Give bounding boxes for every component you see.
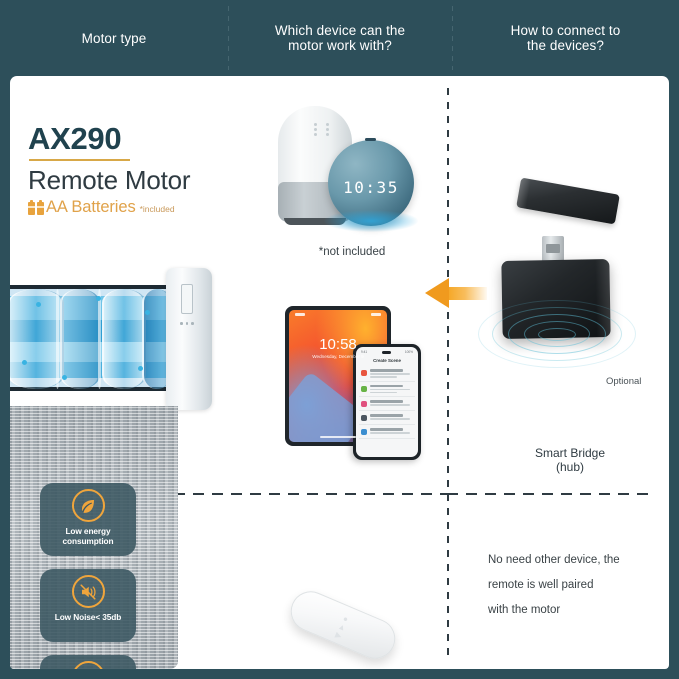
header-label-how-to-connect: How to connect tothe devices? [511, 23, 621, 53]
list-item[interactable] [359, 411, 415, 425]
product-name: Remote Motor [28, 165, 248, 195]
launch-app-icon [361, 370, 367, 376]
list-item[interactable] [359, 382, 415, 398]
tablet-home-indicator [320, 436, 356, 439]
motor-end-cap [166, 268, 212, 410]
when-device-status-icon [361, 429, 367, 435]
feature-badges-panel: Low energyconsumption Low Noise< 35db [10, 406, 178, 669]
echo-top-button [365, 138, 376, 141]
speakers-caption: *not included [262, 246, 442, 258]
vertical-dashed-divider [447, 88, 449, 656]
remote-control-icon: ● ▲ ▶ [285, 585, 402, 665]
horizontal-dashed-divider-right [447, 493, 655, 495]
tablet-and-phone-illustration: 10:58 Wednesday, December 9 9:41 100% Cr… [285, 306, 445, 466]
paired-note: No need other device, the remote is well… [488, 548, 668, 623]
when-location-icon [361, 401, 367, 407]
usb-dongle-cap [516, 178, 620, 225]
feature-label-low-energy: Low energyconsumption [60, 526, 117, 546]
feature-badge-stable-operation: Stable Operation100000+running tests [40, 655, 136, 669]
speaker-led-dots [314, 128, 329, 131]
smart-bridge-subtitle: (hub) [480, 460, 660, 474]
list-item[interactable] [359, 425, 415, 439]
optional-label: Optional [606, 376, 641, 387]
feature-label-low-noise: Low Noise< 35db [52, 612, 125, 622]
feature-badge-low-energy: Low energyconsumption [40, 483, 136, 556]
motor-tube-cutaway [10, 280, 174, 398]
comparison-header: Motor type Which device can themotor wor… [0, 0, 679, 76]
header-label-compatible-devices: Which device can themotor work with? [275, 23, 405, 53]
leaf-icon [72, 489, 105, 522]
feature-badge-low-noise: Low Noise< 35db [40, 569, 136, 642]
list-item[interactable] [359, 366, 415, 382]
wireless-signal-rings [480, 304, 669, 374]
phone-status-battery: 100% [405, 350, 413, 354]
header-column-motor-type: Motor type [0, 0, 228, 76]
motor-cap-slot [181, 284, 193, 314]
gears-icon [72, 661, 105, 669]
header-label-motor-type: Motor type [82, 31, 147, 46]
motor-illustration [10, 266, 225, 416]
battery-note-row: AA Batteries *included [28, 198, 248, 217]
smart-bridge-caption: Smart Bridge (hub) [480, 446, 660, 474]
list-item[interactable] [359, 397, 415, 411]
header-divider-1 [228, 6, 229, 70]
when-condition-icon [361, 386, 367, 392]
smart-bridge-name: Smart Bridge [480, 446, 660, 460]
echo-light-ring [324, 210, 418, 232]
battery-icon [28, 202, 44, 215]
header-divider-2 [452, 6, 453, 70]
product-model: AX290 [28, 122, 248, 156]
header-column-compatible-devices: Which device can themotor work with? [228, 0, 452, 76]
paired-note-line-3: with the motor [488, 598, 668, 623]
tablet-clock: 10:58 [289, 336, 387, 353]
paired-note-line-1: No need other device, the [488, 548, 668, 573]
phone-device: 9:41 100% Create Scene [353, 344, 421, 460]
header-column-how-to-connect: How to connect tothe devices? [452, 0, 679, 76]
battery-included-note: *included [140, 204, 175, 214]
paired-note-line-2: remote is well paired [488, 573, 668, 598]
title-underline [29, 159, 130, 161]
product-title-block: AX290 Remote Motor AA Batteries *include… [28, 122, 248, 217]
battery-label: AA Batteries [46, 198, 136, 217]
motor-cap-dots [180, 322, 194, 325]
smart-bridge-illustration [480, 186, 669, 406]
left-arrow-icon [425, 278, 487, 308]
echo-clock-display: 10:35 [328, 178, 414, 197]
mute-speaker-icon [72, 575, 105, 608]
content-card: AX290 Remote Motor AA Batteries *include… [10, 76, 669, 669]
tablet-date: Wednesday, December 9 [289, 354, 387, 359]
tablet-status-bar [289, 313, 387, 319]
phone-screen: 9:41 100% Create Scene [356, 347, 418, 457]
schedule-icon [361, 415, 367, 421]
